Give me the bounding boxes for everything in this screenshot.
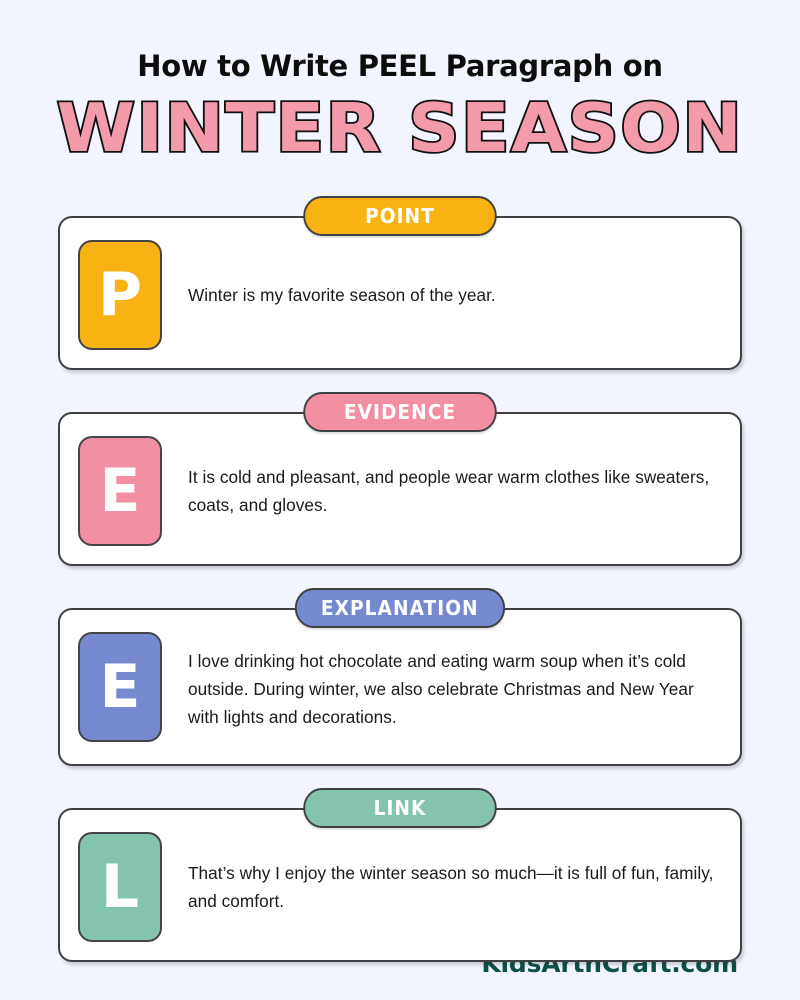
pill-evidence[interactable]: EVIDENCE (303, 392, 496, 432)
page-subtitle: How to Write PEEL Paragraph on (0, 52, 800, 81)
card-text-link: That’s why I enjoy the winter season so … (162, 854, 724, 916)
letter-box-explanation: E (78, 632, 162, 742)
card-explanation: E I love drinking hot chocolate and eati… (58, 608, 742, 766)
pill-row-point: POINT (58, 196, 742, 236)
card-text-evidence: It is cold and pleasant, and people wear… (162, 458, 724, 520)
peel-sections: POINT P Winter is my favorite season of … (0, 196, 800, 962)
pill-point[interactable]: POINT (303, 196, 496, 236)
pill-row-link: LINK (58, 788, 742, 828)
letter-box-evidence: E (78, 436, 162, 546)
section-evidence: EVIDENCE E It is cold and pleasant, and … (58, 392, 742, 566)
section-point: POINT P Winter is my favorite season of … (58, 196, 742, 370)
section-explanation: EXPLANATION E I love drinking hot chocol… (58, 588, 742, 766)
page-header: How to Write PEEL Paragraph on WINTER SE… (0, 0, 800, 162)
letter-box-link: L (78, 832, 162, 942)
card-link: L That’s why I enjoy the winter season s… (58, 808, 742, 962)
section-link: LINK L That’s why I enjoy the winter sea… (58, 788, 742, 962)
pill-explanation[interactable]: EXPLANATION (295, 588, 505, 628)
card-point: P Winter is my favorite season of the ye… (58, 216, 742, 370)
card-text-explanation: I love drinking hot chocolate and eating… (162, 642, 724, 732)
pill-row-evidence: EVIDENCE (58, 392, 742, 432)
pill-row-explanation: EXPLANATION (58, 588, 742, 628)
pill-link[interactable]: LINK (303, 788, 496, 828)
page-title: WINTER SEASON (0, 95, 800, 162)
card-evidence: E It is cold and pleasant, and people we… (58, 412, 742, 566)
card-text-point: Winter is my favorite season of the year… (162, 276, 724, 310)
letter-box-point: P (78, 240, 162, 350)
